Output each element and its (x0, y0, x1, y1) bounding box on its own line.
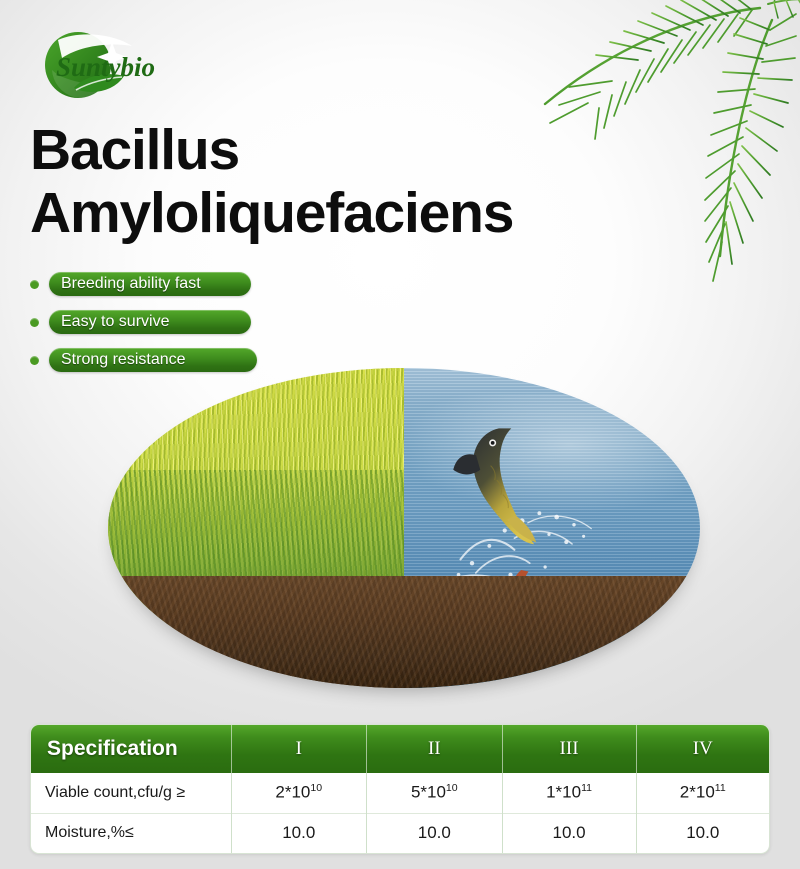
specification-table: Specification I II III IV Viable count,c… (30, 724, 770, 854)
cell-moisture-1: 10.0 (231, 813, 367, 853)
table-header-row: Specification I II III IV (31, 725, 769, 773)
header-grade-1: I (231, 725, 367, 773)
soil-cross-section (108, 576, 700, 688)
cell-moisture-2: 10.0 (367, 813, 503, 853)
table-row: Viable count,cfu/g ≥ 2*1010 5*1010 1*101… (31, 773, 769, 813)
cell-exponent: 10 (310, 782, 322, 794)
hero-oval-image (108, 368, 700, 688)
feature-item-2[interactable]: Easy to survive (30, 310, 257, 334)
svg-text:Suntybio: Suntybio (56, 52, 155, 82)
cell-value: 1*10 (546, 783, 581, 802)
cell-viable-count-3: 1*1011 (502, 773, 636, 813)
cell-exponent: 10 (446, 782, 458, 794)
poster-canvas: Suntybio Bacillus Amyloliquefaciens Bree… (0, 0, 800, 869)
feature-label-1: Breeding ability fast (49, 272, 251, 296)
page-title: Bacillus Amyloliquefaciens (30, 122, 690, 242)
bullet-dot-icon (30, 356, 39, 365)
bullet-dot-icon (30, 280, 39, 289)
feature-label-2: Easy to survive (49, 310, 251, 334)
cell-viable-count-1: 2*1010 (231, 773, 367, 813)
bullet-dot-icon (30, 318, 39, 327)
title-line-1: Bacillus (30, 118, 239, 182)
cell-value: 5*10 (411, 783, 446, 802)
cell-value: 2*10 (680, 783, 715, 802)
header-grade-2: II (367, 725, 503, 773)
cell-value: 2*10 (275, 783, 310, 802)
header-specification: Specification (31, 725, 231, 773)
row-label-viable-count: Viable count,cfu/g ≥ (31, 773, 231, 813)
header-grade-4: IV (636, 725, 769, 773)
brand-logo[interactable]: Suntybio (28, 24, 178, 106)
suntybio-logo-icon: Suntybio (28, 24, 178, 106)
cell-viable-count-2: 5*1010 (367, 773, 503, 813)
rice-crop-layer (108, 368, 404, 610)
cell-exponent: 11 (581, 782, 592, 794)
jumping-fish-icon (445, 419, 569, 566)
cell-viable-count-4: 2*1011 (636, 773, 769, 813)
header-grade-3: III (502, 725, 636, 773)
title-line-2: Amyloliquefaciens (30, 185, 690, 242)
feature-item-1[interactable]: Breeding ability fast (30, 272, 257, 296)
cell-moisture-3: 10.0 (502, 813, 636, 853)
cell-moisture-4: 10.0 (636, 813, 769, 853)
table-row: Moisture,%≤ 10.0 10.0 10.0 10.0 (31, 813, 769, 853)
row-label-moisture: Moisture,%≤ (31, 813, 231, 853)
cell-exponent: 11 (715, 782, 726, 794)
